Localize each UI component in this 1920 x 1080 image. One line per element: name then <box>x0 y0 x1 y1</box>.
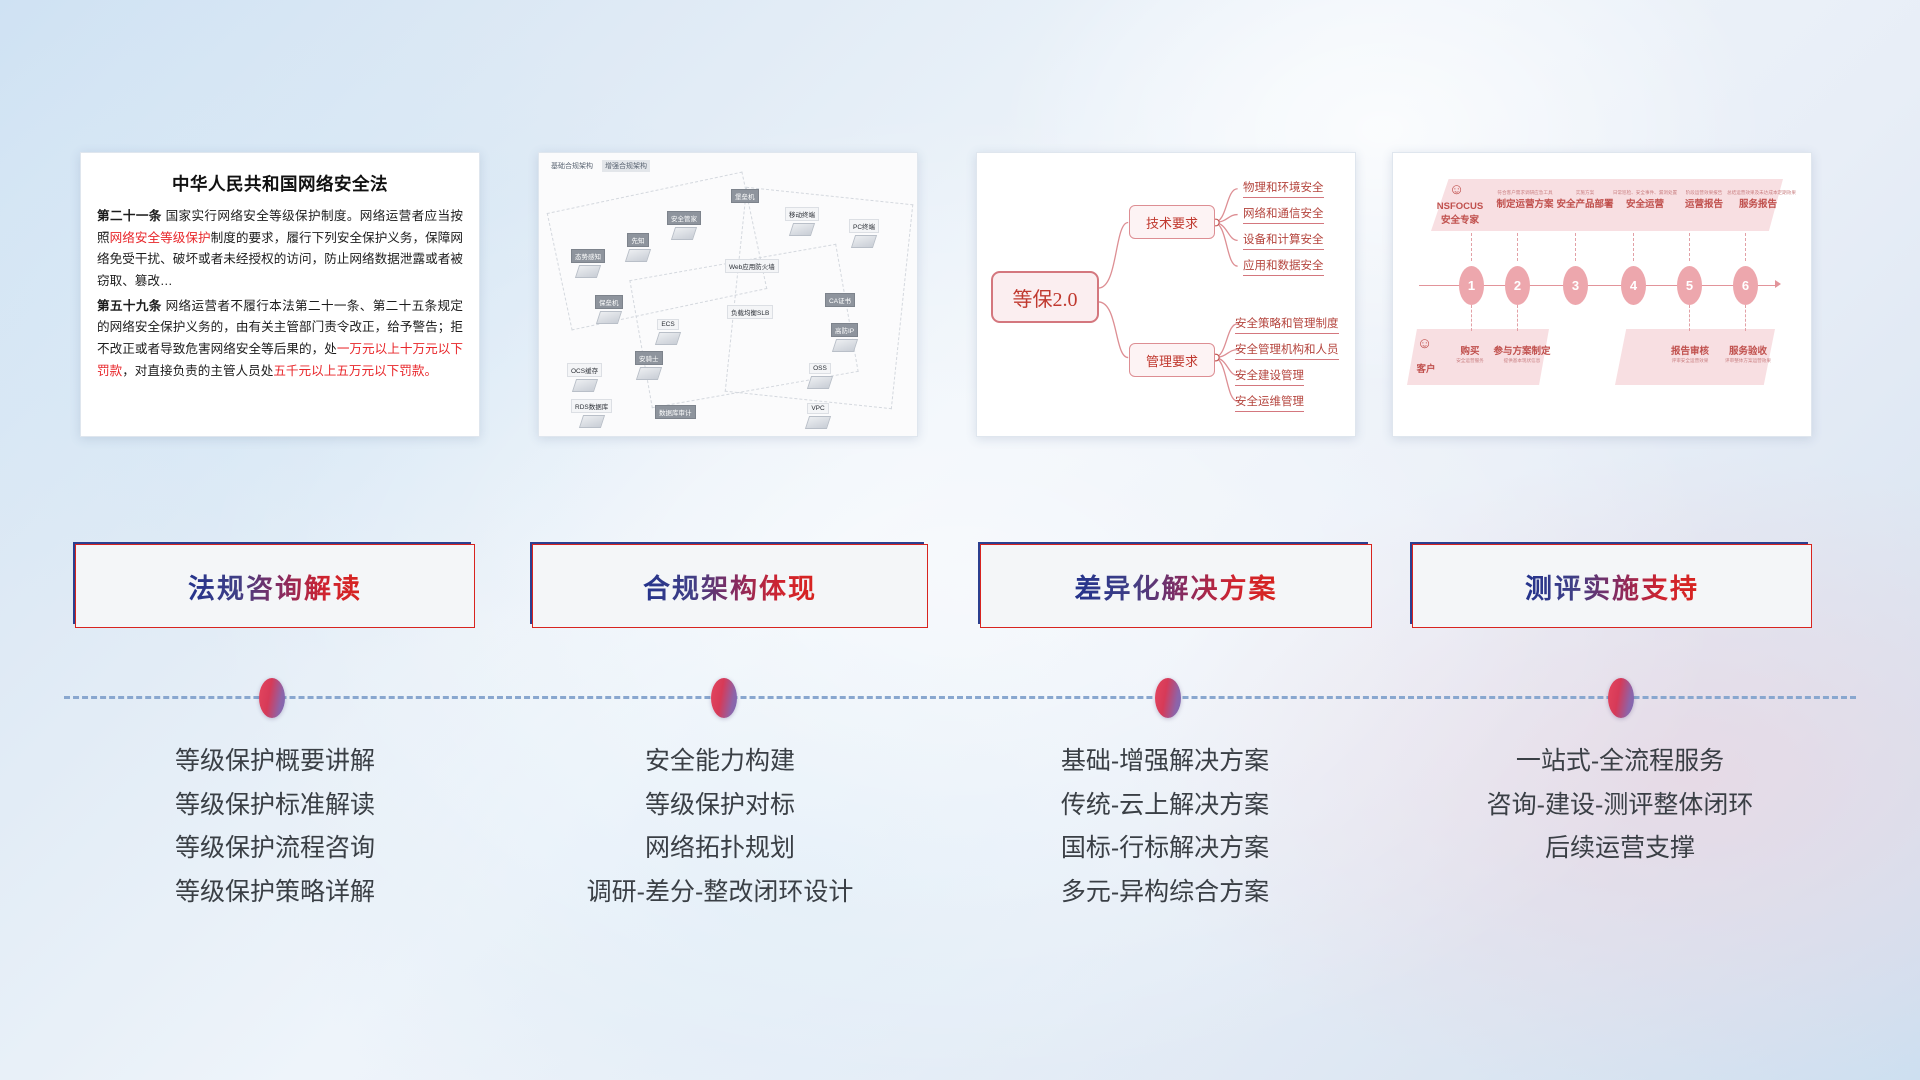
mindmap-branch-technical: 技术要求 <box>1129 205 1215 239</box>
timeline-connector-6 <box>1745 233 1746 261</box>
node-xianzhi: 先知 <box>627 233 649 262</box>
law-paragraph-21: 第二十一条 国家实行网络安全等级保护制度。网络运营者应当按照网络安全等级保护制度… <box>97 206 463 293</box>
node-db-audit: 数据库审计 <box>655 405 696 419</box>
banner-label-2: 合规架构体现 <box>643 567 817 606</box>
node-slb: 负载均衡SLB <box>727 305 773 319</box>
card-compliance-architecture[interactable]: 基础合规架构 增强合规架构 堡垒机 安全管家 先知 态势感知 保垒机 ECS 安… <box>538 152 918 437</box>
customer-person-icon: ☺ <box>1417 335 1432 352</box>
law-title: 中华人民共和国网络安全法 <box>97 171 463 196</box>
list-item: 国标-行标解决方案 <box>945 827 1385 871</box>
list-compliance-architecture: 安全能力构建 等级保护对标 网络拓扑规划 调研-差分-整改闭环设计 <box>505 740 935 914</box>
timeline-connector-b1 <box>1471 305 1472 331</box>
timeline-top-step-4: 阶段运营效果报告 运营报告 <box>1673 189 1735 210</box>
architecture-tabs: 基础合规架构 增强合规架构 <box>548 160 650 172</box>
list-item: 等级保护标准解读 <box>60 784 490 828</box>
node-security-butler: 安全管家 <box>667 211 701 240</box>
preview-cards-row: 中华人民共和国网络安全法 第二十一条 国家实行网络安全等级保护制度。网络运营者应… <box>0 152 1920 452</box>
list-item: 后续运营支撑 <box>1400 827 1840 871</box>
node-waf: Web应用防火墙 <box>725 259 779 273</box>
timeline-connector-b3 <box>1689 305 1690 331</box>
timeline-top-step-5: 总结运营效果及未达成本定期效果 服务报告 <box>1727 189 1789 210</box>
card-cybersecurity-law[interactable]: 中华人民共和国网络安全法 第二十一条 国家实行网络安全等级保护制度。网络运营者应… <box>80 152 480 437</box>
node-bastion: 保垒机 <box>595 295 623 324</box>
list-item: 咨询-建设-测评整体闭环 <box>1400 784 1840 828</box>
mindmap-leaf-m1: 安全策略和管理制度 <box>1235 315 1339 334</box>
mindmap-leaf-t3: 设备和计算安全 <box>1243 231 1324 250</box>
mindmap-leaf-m2: 安全管理机构和人员 <box>1235 341 1339 360</box>
timeline-bottom-step-4: 服务验收 评审整体方案运营效果 <box>1717 343 1779 364</box>
architecture-diagram: 基础合规架构 增强合规架构 堡垒机 安全管家 先知 态势感知 保垒机 ECS 安… <box>539 153 917 436</box>
node-oss: OSS <box>809 363 831 389</box>
timeline-marker-4[interactable] <box>1608 678 1634 718</box>
list-item: 基础-增强解决方案 <box>945 740 1385 784</box>
list-differentiated-solution: 基础-增强解决方案 传统-云上解决方案 国标-行标解决方案 多元-异构综合方案 <box>945 740 1385 914</box>
timeline-arrow-icon <box>1775 280 1781 288</box>
banner-label-4: 测评实施支持 <box>1525 567 1699 606</box>
law-penalty-highlight-2: 五千元以上五万元以下罚款。 <box>273 364 437 378</box>
timeline-marker-3[interactable] <box>1155 678 1181 718</box>
list-item: 传统-云上解决方案 <box>945 784 1385 828</box>
banner-compliance-architecture[interactable]: 合规架构体现 <box>532 544 928 628</box>
tab-basic-architecture[interactable]: 基础合规架构 <box>548 160 596 172</box>
node-ca-cert: CA证书 <box>825 293 855 307</box>
expert-person-icon: ☺ <box>1449 181 1464 198</box>
timeline-dot-2: 2 <box>1505 266 1530 305</box>
node-vpc: VPC <box>807 403 829 429</box>
timeline-marker-1[interactable] <box>259 678 285 718</box>
mindmap-leaf-t1: 物理和环境安全 <box>1243 179 1324 198</box>
node-anti-ddos: 高防IP <box>831 323 858 352</box>
banner-regulation-consulting[interactable]: 法规咨询解读 <box>75 544 475 628</box>
node-ecs: ECS <box>657 319 679 345</box>
list-item: 等级保护概要讲解 <box>60 740 490 784</box>
list-regulation-consulting: 等级保护概要讲解 等级保护标准解读 等级保护流程咨询 等级保护策略详解 <box>60 740 490 914</box>
list-assessment-support: 一站式-全流程服务 咨询-建设-测评整体闭环 后续运营支撑 <box>1400 740 1840 871</box>
mindmap: 等保2.0 技术要求 物理和环境安全 网络和通信安全 设备和计算安全 应用和数据… <box>977 153 1355 436</box>
list-item: 网络拓扑规划 <box>505 827 935 871</box>
node-bastion-top: 堡垒机 <box>731 189 759 203</box>
law-article-21-label: 第二十一条 <box>97 209 162 223</box>
timeline-dot-5: 5 <box>1677 266 1702 305</box>
list-item: 安全能力构建 <box>505 740 935 784</box>
banner-differentiated-solution[interactable]: 差异化解决方案 <box>980 544 1372 628</box>
banner-label-3: 差异化解决方案 <box>1075 567 1278 606</box>
banner-assessment-support[interactable]: 测评实施支持 <box>1412 544 1812 628</box>
timeline-dashed-line <box>64 696 1856 699</box>
node-anqishi: 安骑士 <box>635 351 663 380</box>
timeline-dot-4: 4 <box>1621 266 1646 305</box>
law-article-21-highlight: 网络安全等级保护 <box>110 231 211 245</box>
timeline-connector-b2 <box>1517 305 1518 331</box>
timeline-connector-1 <box>1471 233 1472 261</box>
mindmap-branch-management: 管理要求 <box>1129 343 1215 377</box>
node-ocs-cache: OCS缓存 <box>567 363 602 392</box>
timeline-dot-1: 1 <box>1459 266 1484 305</box>
card-service-timeline[interactable]: ☺ NSFOCUS 安全专家 符合客户需求调研应急工具 制定运营方案 实施方案 … <box>1392 152 1812 437</box>
mindmap-leaf-t2: 网络和通信安全 <box>1243 205 1324 224</box>
timeline-dot-3: 3 <box>1563 266 1588 305</box>
list-item: 等级保护对标 <box>505 784 935 828</box>
service-timeline: ☺ NSFOCUS 安全专家 符合客户需求调研应急工具 制定运营方案 实施方案 … <box>1393 153 1811 436</box>
mindmap-root: 等保2.0 <box>991 271 1099 323</box>
mindmap-leaf-m3: 安全建设管理 <box>1235 367 1304 386</box>
timeline-dot-6: 6 <box>1733 266 1758 305</box>
card-mindmap-dengbao[interactable]: 等保2.0 技术要求 物理和环境安全 网络和通信安全 设备和计算安全 应用和数据… <box>976 152 1356 437</box>
list-item: 一站式-全流程服务 <box>1400 740 1840 784</box>
law-article-59-label: 第五十九条 <box>97 299 162 313</box>
node-situation-awareness: 态势感知 <box>571 249 605 278</box>
law-article-59-text-b: ，对直接负责的主管人员处 <box>122 364 273 378</box>
list-item: 调研-差分-整改闭环设计 <box>505 871 935 915</box>
timeline-connector-b4 <box>1745 305 1746 331</box>
list-item: 等级保护策略详解 <box>60 871 490 915</box>
timeline-connector-2 <box>1517 233 1518 261</box>
timeline-connector-5 <box>1689 233 1690 261</box>
timeline-bottom-step-3: 报告审核 评审安全运营效果 <box>1659 343 1721 364</box>
node-rds: RDS数据库 <box>571 399 612 428</box>
tab-enhanced-architecture[interactable]: 增强合规架构 <box>602 160 650 172</box>
timeline-actor-customer: 客户 <box>1409 361 1443 375</box>
mindmap-leaf-m4: 安全运维管理 <box>1235 393 1304 412</box>
mindmap-leaf-t4: 应用和数据安全 <box>1243 257 1324 276</box>
banner-label-1: 法规咨询解读 <box>188 567 362 606</box>
timeline-bottom-step-2: 参与方案制定 提供基本现状信息 <box>1489 343 1555 364</box>
list-item: 多元-异构综合方案 <box>945 871 1385 915</box>
timeline-actor-expert: NSFOCUS 安全专家 <box>1431 201 1489 226</box>
timeline-top-step-3: 日常巡检、安全事件、漏洞处置 安全运营 <box>1611 189 1679 210</box>
law-paragraph-59: 第五十九条 网络运营者不履行本法第二十一条、第二十五条规定的网络安全保护义务的，… <box>97 296 463 383</box>
timeline-connector-3 <box>1575 233 1576 261</box>
node-pc-terminal: PC终端 <box>849 219 879 248</box>
node-mobile-terminal: 移动终端 <box>785 207 819 236</box>
timeline-connector-4 <box>1633 233 1634 261</box>
list-item: 等级保护流程咨询 <box>60 827 490 871</box>
timeline-marker-2[interactable] <box>711 678 737 718</box>
timeline-bottom-step-1: 购买 安全运营服务 <box>1449 343 1491 364</box>
